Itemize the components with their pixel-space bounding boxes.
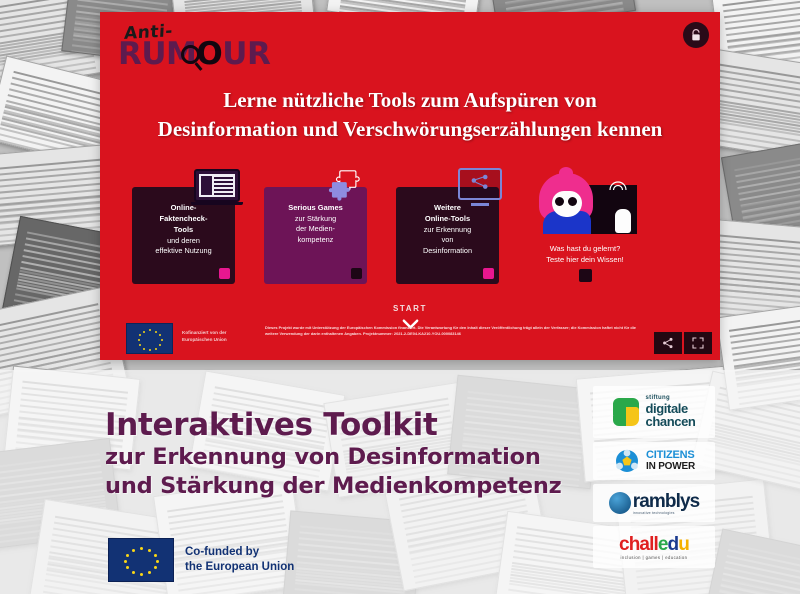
share-button[interactable] bbox=[654, 332, 682, 354]
heading-line-3: und Stärkung der Medienkompetenz bbox=[105, 472, 575, 501]
panel-controls bbox=[654, 332, 712, 354]
eu-flag-icon bbox=[108, 538, 174, 582]
headline-line-1: Lerne nützliche Tools zum Aufspüren von bbox=[100, 86, 720, 115]
logo-gramblys[interactable]: ramblys innovative technologies bbox=[593, 484, 715, 522]
card-dot[interactable] bbox=[483, 268, 494, 279]
sdc-line-2: chancen bbox=[646, 415, 696, 429]
eu-cofunding-line-2: the European Union bbox=[185, 560, 294, 575]
magnifying-glass-icon bbox=[181, 45, 200, 64]
person-pointing-illustration bbox=[533, 171, 637, 234]
citizens-mark-icon bbox=[613, 447, 641, 475]
heading-line-1: Interaktives Toolkit bbox=[105, 408, 575, 443]
cip-line-2: IN POWER bbox=[646, 462, 695, 473]
heading-line-2: zur Erkennung von Desinformation bbox=[105, 443, 575, 472]
logo-challedu[interactable]: challedu inclusion | games | education bbox=[593, 526, 715, 568]
start-label: START bbox=[100, 304, 720, 313]
puzzle-piece-icon bbox=[326, 167, 364, 208]
page-title: Lerne nützliche Tools zum Aufspüren von … bbox=[100, 86, 720, 144]
challedu-tagline: inclusion | games | education bbox=[621, 555, 688, 560]
headline-line-2: Desinformation und Verschwörungserzählun… bbox=[100, 115, 720, 144]
share-nodes-icon bbox=[460, 170, 500, 198]
anti-rumour-logo: Anti- RUMOUR bbox=[118, 22, 270, 69]
card-dot[interactable] bbox=[351, 268, 362, 279]
disclaimer-text: Dieses Projekt wurde mit Unterstützung d… bbox=[265, 323, 710, 337]
sdc-line-1: digitale bbox=[646, 402, 696, 416]
lock-button[interactable] bbox=[683, 22, 709, 48]
fullscreen-button[interactable] bbox=[684, 332, 712, 354]
gramblys-wordmark: ramblys bbox=[633, 492, 700, 511]
fullscreen-icon bbox=[692, 337, 704, 349]
shield-icon bbox=[613, 398, 639, 426]
share-icon bbox=[662, 337, 674, 349]
gramblys-mark-icon bbox=[609, 492, 631, 514]
eu-cofunding-line-1: Co-funded by bbox=[185, 545, 294, 560]
logo-rumour-text: RUMOUR bbox=[118, 40, 270, 69]
embedded-toolkit-panel: Anti- RUMOUR Lerne nützliche Tools zum A… bbox=[100, 12, 720, 360]
newspaper-laptop-icon bbox=[194, 169, 243, 205]
card-dot[interactable] bbox=[579, 269, 592, 282]
partner-logos: stiftung digitale chancen CITIZENS IN PO… bbox=[593, 386, 715, 572]
card-quiz[interactable]: Was hast du gelernt? Teste hier dein Wis… bbox=[524, 171, 646, 289]
eu-cofunding-text: Co-funded by the European Union bbox=[185, 545, 294, 575]
logo-citizens-in-power[interactable]: CITIZENS IN POWER bbox=[593, 442, 715, 480]
logo-stiftung-digitale-chancen[interactable]: stiftung digitale chancen bbox=[593, 386, 715, 438]
eu-disclaimer-bar: Kofinanziert von der Europäischen Union … bbox=[100, 318, 720, 360]
card-quiz-caption: Was hast du gelernt? Teste hier dein Wis… bbox=[518, 243, 652, 266]
eu-flag-icon bbox=[126, 323, 173, 354]
card-dot[interactable] bbox=[219, 268, 230, 279]
monitor-share-icon bbox=[458, 168, 502, 206]
eu-cofunding-footer: Co-funded by the European Union bbox=[108, 538, 294, 582]
cip-line-1: CITIZENS bbox=[646, 450, 695, 462]
lock-icon bbox=[690, 29, 702, 42]
eu-funding-caption: Kofinanziert von der Europäischen Union bbox=[182, 323, 256, 344]
topic-cards: Online- Faktencheck- Tools und deren eff… bbox=[128, 167, 700, 292]
challedu-wordmark: challedu bbox=[619, 535, 689, 554]
page-heading: Interaktives Toolkit zur Erkennung von D… bbox=[105, 408, 575, 500]
tap-gesture-icon bbox=[605, 181, 631, 199]
